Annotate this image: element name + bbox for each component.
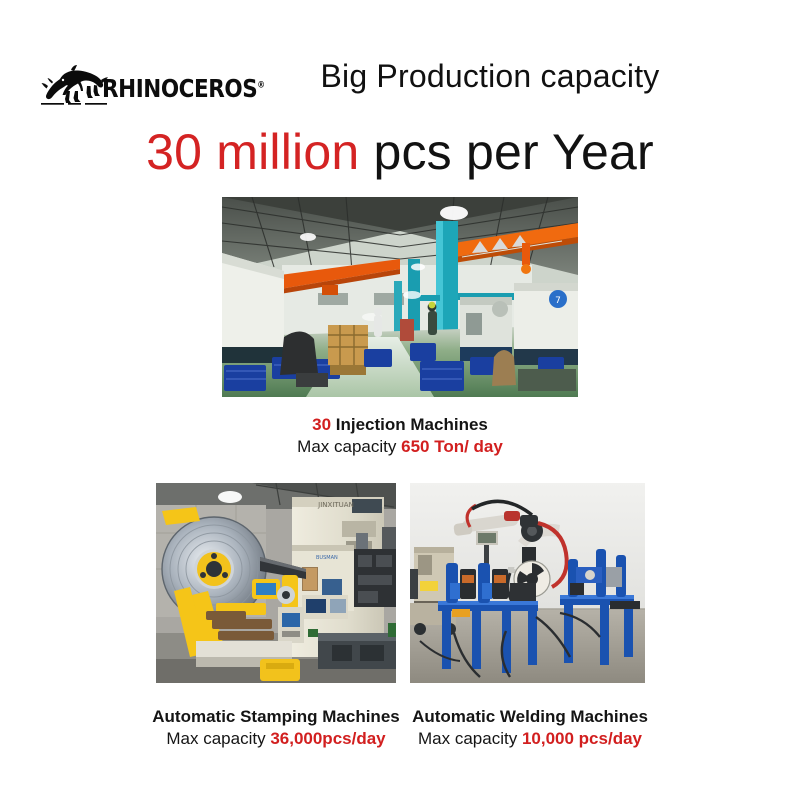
welding-caption: Automatic Welding Machines Max capacity … [404, 706, 656, 751]
automatic-stamping-machine-photo: JINXITUAN BUSMAN [156, 483, 396, 683]
svg-text:7: 7 [555, 296, 561, 306]
headline-highlight: 30 million [146, 124, 359, 180]
welding-capacity-value: 10,000 pcs/day [522, 729, 642, 748]
stamping-caption-line1: Automatic Stamping Machines [140, 706, 412, 728]
welding-caption-line1: Automatic Welding Machines [404, 706, 656, 728]
headline: 30 million pcs per Year [0, 123, 800, 181]
injection-caption: 30 Injection Machines Max capacity 650 T… [220, 414, 580, 459]
stamping-caption: Automatic Stamping Machines Max capacity… [140, 706, 412, 751]
injection-capacity-value: 650 Ton/ day [401, 437, 503, 456]
injection-caption-line1: 30 Injection Machines [220, 414, 580, 436]
injection-machine-count: 30 [312, 415, 331, 434]
headline-rest: pcs per Year [359, 124, 653, 180]
slide-root: RHINOCEROS® Big Production capacity 30 m… [0, 0, 800, 800]
welding-caption-line2: Max capacity 10,000 pcs/day [404, 728, 656, 750]
automatic-welding-machine-photo [410, 483, 645, 683]
svg-text:BUSMAN: BUSMAN [316, 555, 338, 561]
injection-molding-workshop-photo: 7 [222, 197, 578, 397]
svg-text:JINXITUAN: JINXITUAN [317, 501, 354, 509]
page-title: Big Production capacity [0, 58, 800, 95]
stamping-capacity-label: Max capacity [166, 729, 270, 748]
injection-caption-line2: Max capacity 650 Ton/ day [220, 436, 580, 458]
injection-capacity-label: Max capacity [297, 437, 401, 456]
stamping-caption-line2: Max capacity 36,000pcs/day [140, 728, 412, 750]
stamping-capacity-value: 36,000pcs/day [270, 729, 385, 748]
welding-capacity-label: Max capacity [418, 729, 522, 748]
injection-caption-line1-text: Injection Machines [331, 415, 488, 434]
